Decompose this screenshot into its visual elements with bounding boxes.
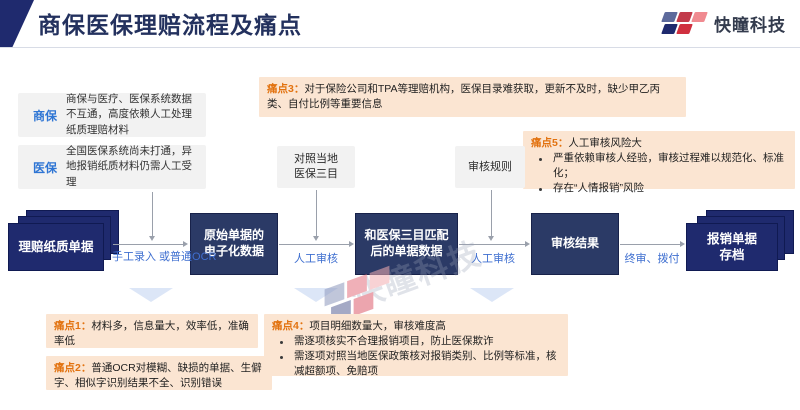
pain-point-3-title: 痛点3： bbox=[267, 83, 304, 95]
pain-point-5-bullet: 严重依赖审核人经验，审核过程难以规范化、标准化； bbox=[531, 151, 787, 181]
connector-vertical bbox=[491, 190, 492, 238]
connector-arrow-icon bbox=[525, 241, 530, 247]
reference-box-local-catalog: 对照当地 医保三目 bbox=[277, 146, 355, 188]
reference-box-audit-rules: 审核规则 bbox=[455, 146, 525, 188]
pain-point-5-bullet: 存在“人情报销”风险 bbox=[531, 181, 787, 196]
connector-horizontal bbox=[279, 244, 351, 245]
slide-header: 商保医保理赔流程及痛点 快瞳科技 bbox=[0, 0, 800, 48]
pain-point-5-title: 痛点5： bbox=[531, 137, 568, 149]
side-note-label: 商保 bbox=[24, 107, 66, 124]
pain-point-3-text: 痛点3：对于保险公司和TPA等理赔机构，医保目录难获取，更新不及时，缺少甲乙丙类… bbox=[267, 82, 678, 111]
pointer-triangle-icon bbox=[470, 288, 514, 302]
flow-node-digitized-data: 原始单据的 电子化数据 bbox=[190, 213, 278, 275]
logo-mark-icon bbox=[662, 12, 706, 34]
flow-node-claim-paper-documents: 理赔纸质单据 bbox=[8, 210, 120, 276]
connector-vertical-arrow-icon bbox=[149, 236, 155, 241]
pain-point-4-heading: 痛点4：项目明细数量大，审核难度高 bbox=[272, 319, 560, 334]
pain-point-1: 痛点1：材料多，信息量大，效率低，准确率低 bbox=[46, 314, 258, 348]
connector-horizontal bbox=[113, 244, 185, 245]
pointer-triangle-icon bbox=[294, 288, 338, 302]
brand-logo: 快瞳科技 bbox=[662, 8, 786, 38]
pain-point-1-title: 痛点1： bbox=[54, 320, 91, 332]
pain-point-4-bullet: 需逐项对照当地医保政策核对报销类别、比例等标准，核减超额项、免赔项 bbox=[272, 349, 560, 379]
pain-point-2-title: 痛点2： bbox=[54, 362, 91, 374]
connector-arrow-icon bbox=[680, 241, 685, 247]
doc-sheet-front: 报销单据 存档 bbox=[686, 223, 778, 271]
side-note-text: 全国医保系统尚未打通，异地报销纸质材料仍需人工受理 bbox=[66, 144, 198, 190]
connector-arrow-icon bbox=[183, 241, 188, 247]
pain-point-3-body: 对于保险公司和TPA等理赔机构，医保目录难获取，更新不及时，缺少甲乙丙类、自付比… bbox=[267, 83, 660, 110]
connector-vertical-arrow-icon bbox=[488, 236, 494, 241]
flow-node-label: 和医保三目匹配 后的单据数据 bbox=[364, 228, 448, 259]
pain-point-4-head: 项目明细数量大，审核难度高 bbox=[309, 320, 446, 332]
flow-connector-label-final-payment: 终审、拨付 bbox=[621, 252, 683, 266]
pain-point-5-heading: 痛点5：人工审核风险大 bbox=[531, 136, 787, 151]
header-divider bbox=[0, 47, 800, 48]
side-note-label: 医保 bbox=[24, 159, 66, 176]
flow-node-audit-result: 审核结果 bbox=[531, 213, 619, 275]
flow-node-reimbursement-archive: 报销单据 存档 bbox=[686, 210, 794, 276]
pain-point-4: 痛点4：项目明细数量大，审核难度高 需逐项核实不合理报销项目，防止医保欺诈 需逐… bbox=[264, 314, 568, 376]
connector-vertical bbox=[316, 190, 317, 238]
reference-box-label: 审核规则 bbox=[468, 160, 512, 175]
pain-point-4-title: 痛点4： bbox=[272, 320, 309, 332]
pain-point-1-text: 痛点1：材料多，信息量大，效率低，准确率低 bbox=[54, 319, 250, 348]
pain-point-5: 痛点5：人工审核风险大 严重依赖审核人经验，审核过程难以规范化、标准化； 存在“… bbox=[523, 131, 795, 189]
slide-canvas: 商保医保理赔流程及痛点 快瞳科技 商保 商保与医疗、医保系统数据不互通，高度依赖… bbox=[0, 0, 800, 410]
flow-connector-label-manual-audit-2: 人工审核 bbox=[460, 252, 526, 266]
logo-text: 快瞳科技 bbox=[714, 11, 786, 36]
flow-connector-label-manual-entry: 手工录入 或普通OCR bbox=[112, 250, 190, 264]
page-title: 商保医保理赔流程及痛点 bbox=[38, 6, 302, 40]
flow-connector-label-manual-audit-1: 人工审核 bbox=[283, 252, 349, 266]
connector-arrow-icon bbox=[349, 241, 354, 247]
pain-point-5-head: 人工审核风险大 bbox=[568, 137, 642, 149]
pain-point-4-bullet: 需逐项核实不合理报销项目，防止医保欺诈 bbox=[272, 334, 560, 349]
side-note-text: 商保与医疗、医保系统数据不互通，高度依赖人工处理纸质理赔材料 bbox=[66, 92, 198, 138]
flow-node-label: 报销单据 存档 bbox=[707, 231, 757, 264]
pain-point-2-text: 痛点2：普通OCR对模糊、缺损的单据、生僻字、相似字识别结果不全、识别错误 bbox=[54, 361, 264, 390]
connector-vertical bbox=[152, 192, 153, 238]
pain-point-3: 痛点3：对于保险公司和TPA等理赔机构，医保目录难获取，更新不及时，缺少甲乙丙类… bbox=[259, 77, 686, 117]
doc-sheet-front: 理赔纸质单据 bbox=[8, 223, 104, 271]
pointer-triangle-icon bbox=[129, 288, 173, 302]
pain-point-2: 痛点2：普通OCR对模糊、缺损的单据、生僻字、相似字识别结果不全、识别错误 bbox=[46, 356, 272, 390]
side-note-commercial-insurance: 商保 商保与医疗、医保系统数据不互通，高度依赖人工处理纸质理赔材料 bbox=[18, 93, 206, 137]
flow-node-label: 审核结果 bbox=[551, 236, 599, 252]
connector-horizontal bbox=[620, 244, 682, 245]
reference-box-label: 对照当地 医保三目 bbox=[294, 152, 338, 182]
connector-horizontal bbox=[459, 244, 527, 245]
connector-vertical-arrow-icon bbox=[313, 236, 319, 241]
side-note-medical-insurance: 医保 全国医保系统尚未打通，异地报销纸质材料仍需人工受理 bbox=[18, 145, 206, 189]
flow-node-label: 理赔纸质单据 bbox=[18, 239, 93, 255]
flow-node-matched-data: 和医保三目匹配 后的单据数据 bbox=[355, 213, 458, 275]
